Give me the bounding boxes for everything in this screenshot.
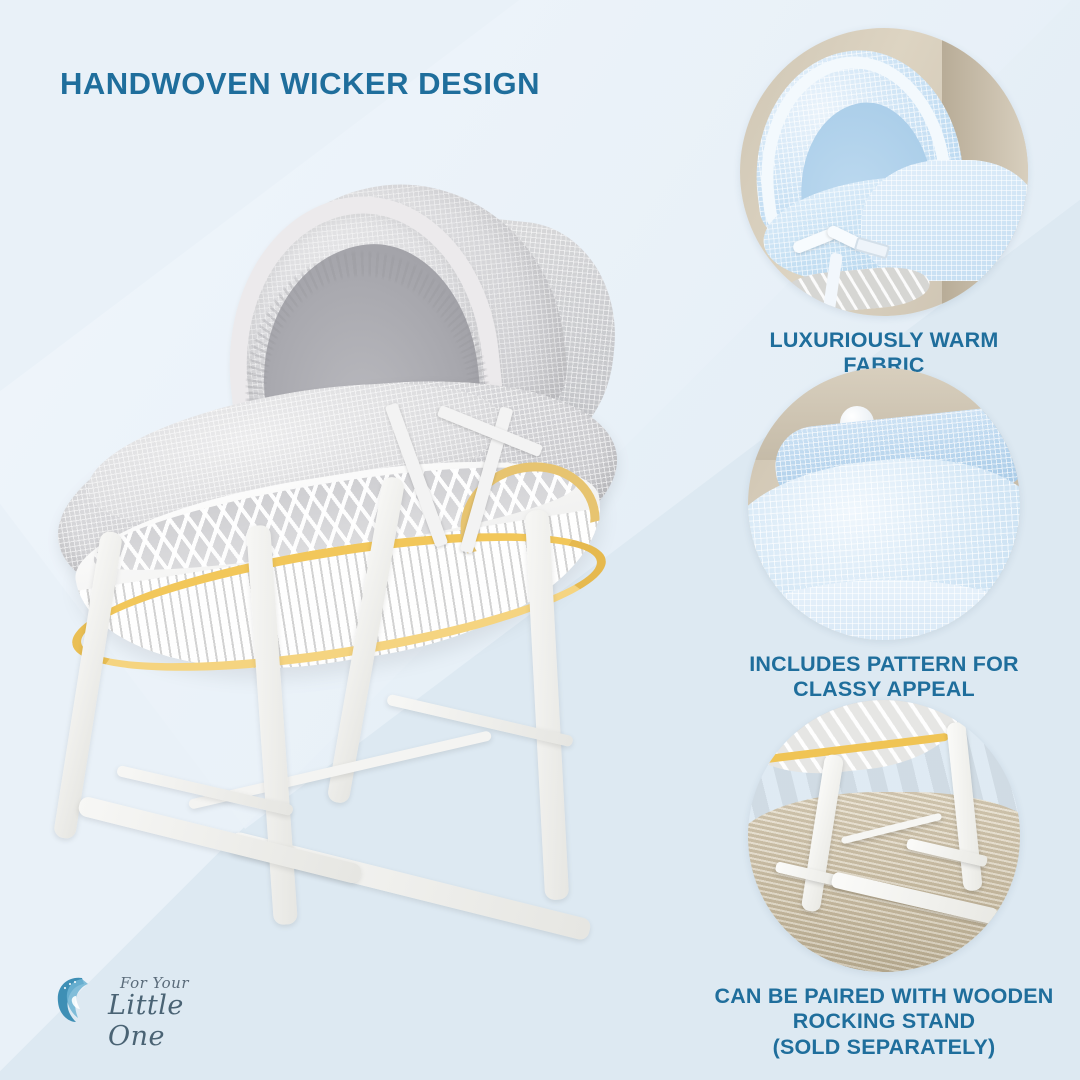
caption-line: ROCKING STAND — [688, 1009, 1080, 1034]
mother-and-baby-silhouette-icon — [52, 974, 100, 1026]
page-title: HANDWOVEN WICKER DESIGN — [60, 66, 540, 102]
blue-waffle-blanket — [861, 160, 1028, 281]
brand-logo-line2: Little One — [108, 990, 248, 1052]
feature-fabric-image — [740, 28, 1028, 316]
caption-line: INCLUDES PATTERN FOR — [688, 652, 1080, 677]
caption-line: CAN BE PAIRED WITH WOODEN — [688, 984, 1080, 1009]
product-infographic: HANDWOVEN WICKER DESIGN — [0, 0, 1080, 1080]
stand-rocker-front — [77, 795, 363, 885]
caption-line: CLASSY APPEAL — [688, 677, 1080, 702]
feature-pattern-image — [748, 368, 1020, 640]
feature-pattern-caption: INCLUDES PATTERN FOR CLASSY APPEAL — [688, 652, 1080, 703]
feature-fabric: LUXURIOUSLY WARM FABRIC — [688, 28, 1080, 379]
caption-line: (SOLD SEPARATELY) — [688, 1035, 1080, 1060]
feature-pattern: INCLUDES PATTERN FOR CLASSY APPEAL — [688, 368, 1080, 703]
brand-logo: For Your Little One — [52, 968, 242, 1032]
caption-line: LUXURIOUSLY WARM — [688, 328, 1080, 353]
brand-logo-text: For Your Little One — [98, 968, 248, 1030]
feature-stand-image — [748, 700, 1020, 972]
main-product-image — [55, 175, 665, 1005]
feature-stand-caption: CAN BE PAIRED WITH WOODEN ROCKING STAND … — [688, 984, 1080, 1060]
feature-stand: CAN BE PAIRED WITH WOODEN ROCKING STAND … — [688, 700, 1080, 1060]
